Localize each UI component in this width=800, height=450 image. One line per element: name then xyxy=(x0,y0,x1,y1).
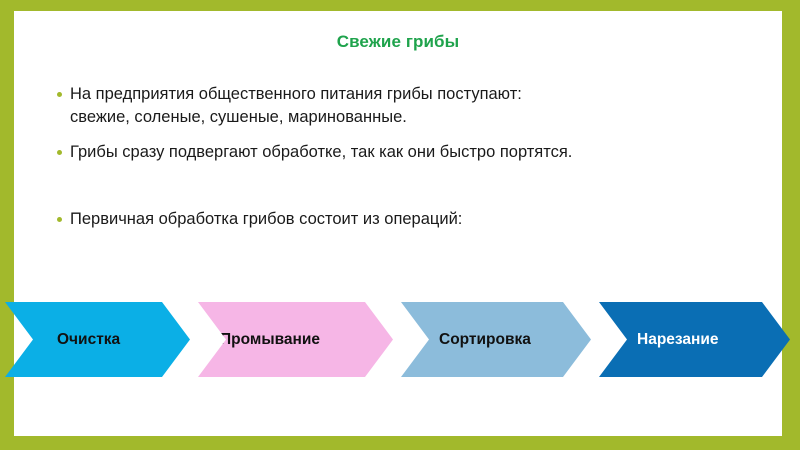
list-item-line-1: Грибы сразу подвергают обработке, так ка… xyxy=(70,143,572,161)
list-item: Грибы сразу подвергают обработке, так ка… xyxy=(56,141,752,164)
list-item-line-2: свежие, соленые, сушеные, маринованные. xyxy=(70,106,752,129)
bullet-list: На предприятия общественного питания гри… xyxy=(56,83,752,231)
list-item-line-1: На предприятия общественного питания гри… xyxy=(70,85,522,103)
slide: Свежие грибы На предприятия общественног… xyxy=(0,0,800,450)
process-step-3: Сортировка xyxy=(401,302,591,377)
list-item: Первичная обработка грибов состоит из оп… xyxy=(56,208,752,231)
process-step-1: Очистка xyxy=(5,302,190,377)
process-step-label: Сортировка xyxy=(439,331,531,349)
bullet-dot-icon xyxy=(57,217,62,222)
process-step-2: Промывание xyxy=(198,302,393,377)
process-flow-diagram: Очистка Промывание Сортировка Нарезание xyxy=(0,302,790,377)
list-item-line-1: Первичная обработка грибов состоит из оп… xyxy=(70,210,462,228)
process-step-label: Промывание xyxy=(220,331,320,349)
process-step-4: Нарезание xyxy=(599,302,790,377)
bullet-dot-icon xyxy=(57,150,62,155)
process-step-label: Очистка xyxy=(57,331,120,349)
bullet-dot-icon xyxy=(57,92,62,97)
process-step-label: Нарезание xyxy=(637,331,719,349)
list-item: На предприятия общественного питания гри… xyxy=(56,83,752,129)
page-title: Свежие грибы xyxy=(14,32,782,52)
